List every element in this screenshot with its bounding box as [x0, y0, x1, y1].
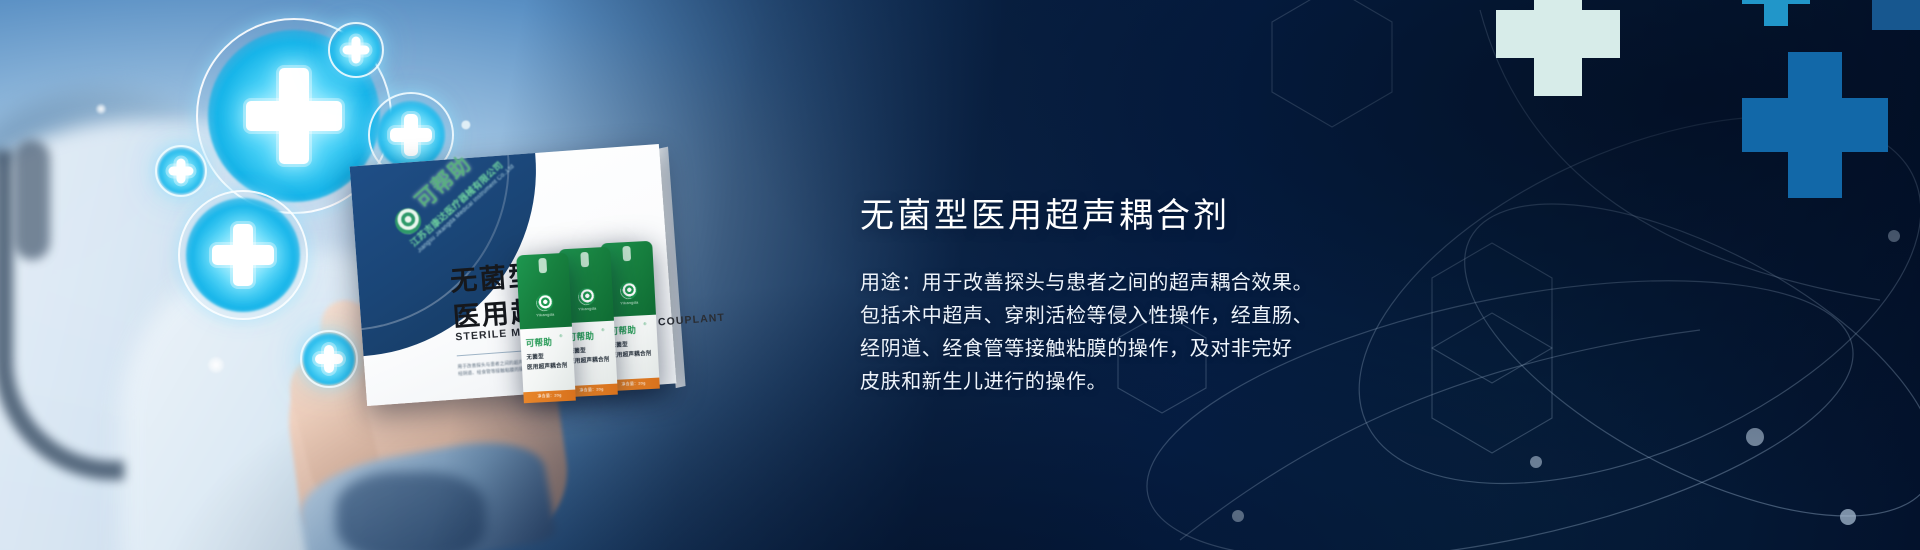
medical-cross-icon: [300, 330, 358, 388]
description: 用途：用于改善探头与患者之间的超声耦合效果。 包括术中超声、穿刺活检等侵入性操作…: [860, 267, 1560, 399]
copy-block: 无菌型医用超声耦合剂 用途：用于改善探头与患者之间的超声耦合效果。 包括术中超声…: [860, 196, 1560, 399]
sachet-net-weight: 净含量：20g: [579, 386, 603, 393]
page-title: 无菌型医用超声耦合剂: [860, 196, 1560, 237]
sachet-line2: 医用超声耦合剂: [611, 349, 652, 359]
sachet-net-weight: 净含量：20g: [621, 380, 645, 387]
sachet-logo-caption: Yikangda: [578, 306, 596, 312]
logo-dot-icon: [460, 119, 473, 132]
description-line: 用途：用于改善探头与患者之间的超声耦合效果。: [860, 267, 1560, 300]
sachet-net-weight: 净含量：20g: [537, 392, 561, 399]
medical-cross-icon: [1742, 0, 1810, 26]
medical-cross-icon: [1872, 0, 1920, 30]
sachet-line2: 医用超声耦合剂: [569, 355, 610, 365]
spiral-logo-icon: [620, 282, 638, 300]
sparkle-icon: [96, 104, 106, 114]
description-line: 经阴道、经食管等接触粘膜的操作，及对非完好: [860, 333, 1560, 366]
medical-cross-icon: [1742, 52, 1888, 198]
sachet-weight-strip: 净含量：20g: [523, 390, 576, 404]
tear-notch-icon: [538, 258, 547, 273]
description-line: 包括术中超声、穿刺活检等侵入性操作，经直肠、: [860, 300, 1560, 333]
sachet-top: Yikangda: [516, 253, 572, 330]
sachet: Yikangda 可帮助 ® 无菌型 医用超声耦合剂 净含量：20g: [516, 253, 576, 404]
spiral-logo-icon: [578, 288, 596, 306]
sachet-logo-caption: Yikangda: [620, 300, 638, 306]
sachet-logo-caption: Yikangda: [536, 312, 554, 318]
medical-cross-icon: [1496, 0, 1620, 96]
sparkle-icon: [208, 357, 224, 373]
tear-notch-icon: [622, 246, 631, 261]
hero-banner: 可帮助 江苏吉康达医疗器械有限公司 Jiangsu Jikangda Medic…: [0, 0, 1920, 550]
medical-cross-icon: [328, 22, 384, 78]
registered-mark: ®: [643, 321, 646, 326]
sachet-group: Yikangda 可帮助 ® 无菌型 医用超声耦合剂 净含量：20g Yikan…: [520, 240, 700, 410]
registered-mark: ®: [601, 327, 604, 332]
spiral-logo-icon: [536, 294, 554, 312]
sachet-line1: 无菌型: [526, 352, 544, 361]
sachet-brand: 可帮助: [525, 336, 552, 349]
registered-mark: ®: [559, 333, 562, 338]
medical-cross-icon: [178, 190, 308, 320]
medical-cross-icon: [155, 145, 207, 197]
description-line: 皮肤和新生儿进行的操作。: [860, 366, 1560, 399]
tear-notch-icon: [580, 252, 589, 267]
sachet-bottom: 可帮助 ® 无菌型 医用超声耦合剂 净含量：20g: [520, 327, 576, 404]
sachet-line2: 医用超声耦合剂: [527, 361, 568, 371]
